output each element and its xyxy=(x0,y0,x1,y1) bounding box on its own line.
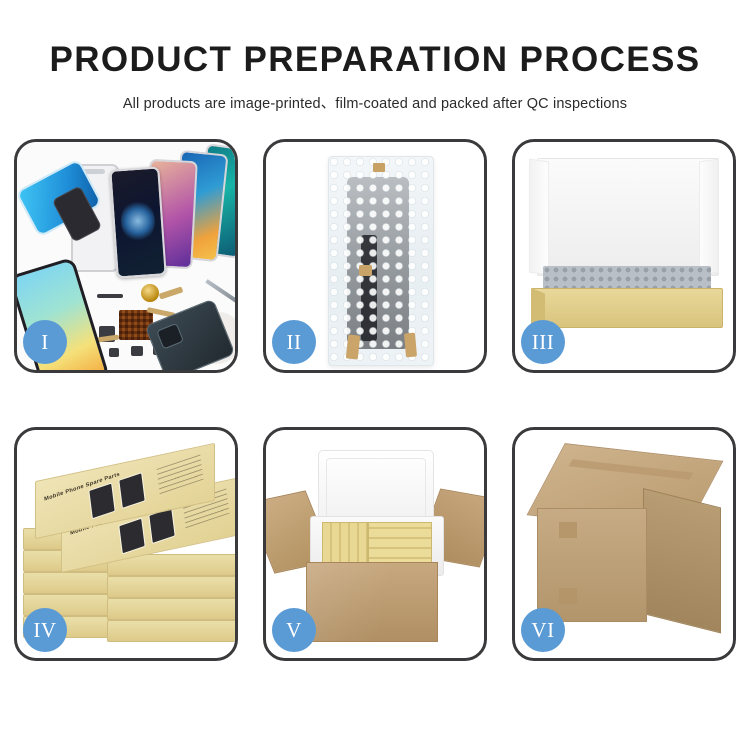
page-header: PRODUCT PREPARATION PROCESS All products… xyxy=(0,0,750,113)
process-steps-grid: I II xyxy=(14,139,736,661)
step-badge-v: V xyxy=(272,608,316,652)
box-thumb-2 xyxy=(118,472,145,509)
carton-tab-lower xyxy=(559,588,577,604)
box-spec-lines-1 xyxy=(157,454,204,494)
page-title: PRODUCT PREPARATION PROCESS xyxy=(0,0,750,79)
box-thumb-3 xyxy=(118,518,145,555)
tape-bottom-left xyxy=(346,334,360,359)
step-badge-vi: VI xyxy=(521,608,565,652)
tape-middle xyxy=(359,265,372,276)
part-strip-1 xyxy=(97,294,123,298)
tape-bottom-right xyxy=(404,333,417,358)
box-base-yellow xyxy=(531,288,723,328)
carton-tab-upper xyxy=(559,522,577,538)
tape-top xyxy=(373,163,385,172)
page-subtitle: All products are image-printed、film-coat… xyxy=(0,79,750,113)
box-lid-white xyxy=(537,158,719,276)
speaker-coil xyxy=(141,284,159,302)
process-card-iii[interactable]: III xyxy=(512,139,736,373)
step-badge-i: I xyxy=(23,320,67,364)
stack-layer-r3 xyxy=(107,576,235,598)
process-card-v[interactable]: V xyxy=(263,427,487,661)
bubble-wrap-bag xyxy=(328,156,434,366)
stack-layer-r4 xyxy=(107,598,235,620)
process-card-vi[interactable]: VI xyxy=(512,427,736,661)
step-badge-iii: III xyxy=(521,320,565,364)
stack-layer-r5 xyxy=(107,620,235,642)
carton-front-face xyxy=(537,508,647,622)
part-bracket-3 xyxy=(131,346,143,356)
stack-layer-l3 xyxy=(23,572,117,594)
bubble-texture xyxy=(329,157,433,365)
process-card-iv[interactable]: Mobile Phone Spare Parts Mobile Phone Sp… xyxy=(14,427,238,661)
process-card-ii[interactable]: II xyxy=(263,139,487,373)
carton-body xyxy=(306,562,438,642)
step-badge-iv: IV xyxy=(23,608,67,652)
phone-dark-wallpaper xyxy=(109,166,166,278)
process-card-i[interactable]: I xyxy=(14,139,238,373)
step-badge-ii: II xyxy=(272,320,316,364)
box-lid-flap-left xyxy=(529,159,549,276)
carton-side-face xyxy=(643,488,721,633)
box-thumb-1 xyxy=(88,482,115,519)
part-bracket-2 xyxy=(109,348,119,357)
box-lid-flap-right xyxy=(699,159,719,276)
flex-cable-1 xyxy=(159,286,184,299)
